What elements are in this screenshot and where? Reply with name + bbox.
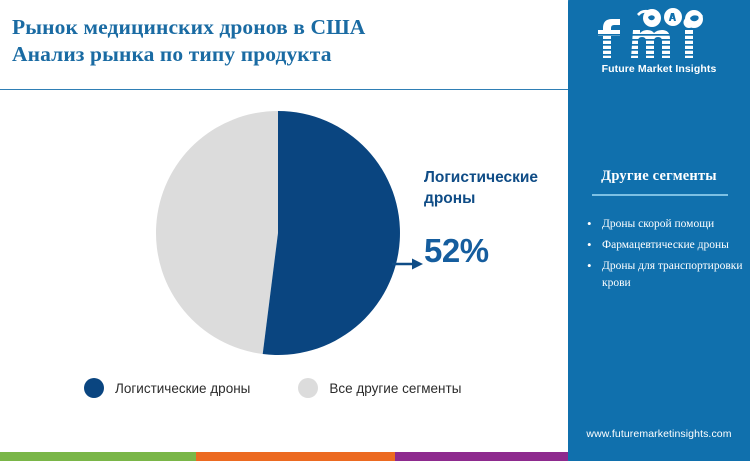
sidebar-heading-divider <box>592 194 728 196</box>
arrow-right-icon <box>392 256 424 272</box>
legend-item-other[interactable]: Все другие сегменты <box>298 378 461 398</box>
list-item[interactable]: Дроны скорой помощи <box>586 216 744 233</box>
site-url[interactable]: www.futuremarketinsights.com <box>568 428 750 440</box>
page-title: Рынок медицинских дронов в США Анализ ры… <box>12 14 552 68</box>
pie-chart <box>147 102 409 364</box>
brand-tagline: Future Market Insights <box>602 63 717 75</box>
pie-slice-other[interactable] <box>156 111 278 354</box>
legend-item-logistics[interactable]: Логистические дроны <box>84 378 250 398</box>
legend-item-label: Логистические дроны <box>115 381 250 396</box>
stripe-orange <box>196 452 395 461</box>
legend-color-swatch <box>298 378 318 398</box>
callout-value: 52% <box>424 232 489 270</box>
pie-slice-logistics[interactable] <box>263 111 400 355</box>
sidebar-heading: Другие сегменты <box>568 168 750 185</box>
legend-color-swatch <box>84 378 104 398</box>
other-segments-list: Дроны скорой помощи Фармацевтические дро… <box>586 216 744 296</box>
brand-logo[interactable]: Future Market Insights <box>568 8 750 86</box>
stripe-green <box>0 452 196 461</box>
infographic-slide: Рынок медицинских дронов в США Анализ ры… <box>0 0 750 461</box>
footer-stripes <box>0 452 568 461</box>
page-title-line-2: Анализ рынка по типу продукта <box>12 41 552 68</box>
stripe-purple <box>395 452 568 461</box>
chart-area: Логистические дроны 52% Логистические др… <box>0 90 568 461</box>
fmi-logo-icon <box>593 8 725 62</box>
header: Рынок медицинских дронов в США Анализ ры… <box>0 0 568 90</box>
list-item[interactable]: Фармацевтические дроны <box>586 237 744 254</box>
legend-item-label: Все другие сегменты <box>329 381 461 396</box>
side-panel: Future Market Insights Другие сегменты Д… <box>568 0 750 461</box>
chart-legend: Логистические дроны Все другие сегменты <box>84 378 504 398</box>
callout-label: Логистические дроны <box>424 167 568 209</box>
page-title-line-1: Рынок медицинских дронов в США <box>12 14 552 41</box>
list-item[interactable]: Дроны для транспортировки крови <box>586 258 744 292</box>
